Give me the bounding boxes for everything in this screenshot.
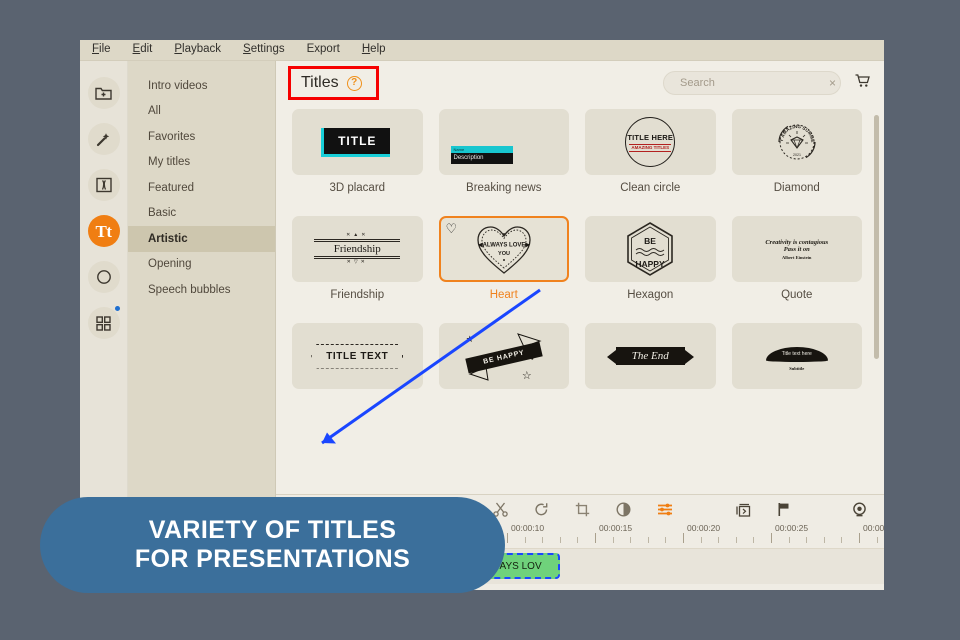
ruler-tick <box>771 533 772 543</box>
thumb-text-description: Description <box>451 153 513 164</box>
cut-icon[interactable] <box>493 502 508 517</box>
title-thumb: BE HAPPY <box>585 216 716 282</box>
svg-text:YOU: YOU <box>498 251 510 257</box>
svg-text:2021: 2021 <box>793 153 801 157</box>
title-card-breaking-news[interactable]: Name Description Breaking news <box>439 109 570 194</box>
menu-item-help[interactable]: Help <box>362 44 386 56</box>
title-thumb: Name Description <box>439 109 570 175</box>
ruler-tick <box>560 537 561 543</box>
rotate-icon[interactable] <box>534 502 549 517</box>
ruler-tick <box>753 537 754 543</box>
thumb-text-author: Albert Einstein <box>765 255 828 260</box>
ruler-label: 00:00:10 <box>511 523 544 533</box>
title-card-label: Clean circle <box>585 182 716 194</box>
ruler-tick <box>648 537 649 543</box>
ruler-tick <box>789 537 790 543</box>
svg-text:MY AMAZING SUMMER: MY AMAZING SUMMER <box>770 115 815 143</box>
category-all[interactable]: All <box>128 99 275 125</box>
title-thumb: TITLE <box>292 109 423 175</box>
notification-dot <box>115 306 120 311</box>
menu-item-playback[interactable]: Playback <box>174 44 221 56</box>
split-screen-icon[interactable] <box>735 503 751 517</box>
thumb-text: The End <box>616 347 685 365</box>
ruler-tick <box>736 537 737 543</box>
thumb-text-sub: Subtitle <box>766 366 828 371</box>
thumb-text: TITLE <box>324 128 390 157</box>
ruler-tick <box>841 537 842 543</box>
menu-item-file[interactable]: File <box>92 44 111 56</box>
title-thumb: TITLE TEXT <box>292 323 423 389</box>
add-media-icon[interactable] <box>88 77 120 109</box>
content-scrollbar[interactable] <box>874 115 879 359</box>
menu-bar: File Edit Playback Settings Export Help <box>80 40 884 61</box>
title-card-label: 3D placard <box>292 182 423 194</box>
caption-banner: VARIETY OF TITLES FOR PRESENTATIONS <box>40 497 505 593</box>
record-screen-icon[interactable] <box>852 502 867 517</box>
search-input[interactable] <box>680 77 822 89</box>
ruler-label: 00:00:20 <box>687 523 720 533</box>
title-card-diamond[interactable]: MY AMAZING SUMMER 2021 Diamond <box>732 109 863 194</box>
ruler-tick <box>859 533 860 543</box>
thumb-text-sub: AMAZING TITLES <box>629 144 671 152</box>
ruler-tick <box>683 533 684 543</box>
thumb-text-line1: Creativity is contagious <box>765 239 828 246</box>
titles-icon[interactable]: Tt <box>88 215 120 247</box>
category-basic[interactable]: Basic <box>128 201 275 227</box>
ruler-tick <box>665 537 666 543</box>
category-featured[interactable]: Featured <box>128 175 275 201</box>
title-card-heart[interactable]: ♡ ◀ALWAYS LOVE▶ YOU Heart <box>439 216 570 301</box>
help-icon[interactable]: ? <box>347 76 362 91</box>
title-thumb: The End <box>585 323 716 389</box>
filters-icon[interactable] <box>88 261 120 293</box>
clear-search-icon[interactable]: × <box>829 76 836 90</box>
title-thumb: TITLE HERE AMAZING TITLES <box>585 109 716 175</box>
title-thumb: MY AMAZING SUMMER 2021 <box>732 109 863 175</box>
svg-text:◀ALWAYS LOVE▶: ◀ALWAYS LOVE▶ <box>477 242 530 249</box>
title-thumb: Creativity is contagious Pass it on Albe… <box>732 216 863 282</box>
ruler-tick <box>824 537 825 543</box>
page-title: Titles <box>301 74 339 92</box>
ruler-tick <box>595 533 596 543</box>
ruler-label: 00:00:15 <box>599 523 632 533</box>
ruler-tick <box>507 533 508 543</box>
cart-icon[interactable] <box>855 74 870 93</box>
thumb-text-line2: Pass it on <box>765 246 828 253</box>
page-title-highlight: Titles ? <box>288 66 379 100</box>
thumb-text: TITLE TEXT <box>311 344 403 369</box>
menu-item-export[interactable]: Export <box>307 44 340 56</box>
menu-item-edit[interactable]: Edit <box>133 44 153 56</box>
thumb-text: Friendship <box>314 242 400 256</box>
title-card-hexagon[interactable]: BE HAPPY Hexagon <box>585 216 716 301</box>
caption-line-1: VARIETY OF TITLES <box>149 516 397 545</box>
title-card-the-end[interactable]: The End <box>585 323 716 396</box>
category-opening[interactable]: Opening <box>128 252 275 278</box>
title-card-label: Breaking news <box>439 182 570 194</box>
ruler-label: 00:00:25 <box>775 523 808 533</box>
category-speech-bubbles[interactable]: Speech bubbles <box>128 277 275 303</box>
category-intro-videos[interactable]: Intro videos <box>128 73 275 99</box>
panel-header: Titles ? × <box>276 61 884 105</box>
title-card-title-text[interactable]: TITLE TEXT <box>292 323 423 396</box>
ruler-tick <box>577 537 578 543</box>
adjust-sliders-icon[interactable] <box>657 502 673 517</box>
contrast-icon[interactable] <box>616 502 631 517</box>
ruler-tick <box>613 537 614 543</box>
magic-wand-icon[interactable] <box>88 123 120 155</box>
title-card-quote[interactable]: Creativity is contagious Pass it on Albe… <box>732 216 863 301</box>
thumb-text-name: Name <box>451 146 513 153</box>
crop-icon[interactable] <box>575 502 590 517</box>
svg-text:HAPPY: HAPPY <box>636 259 666 269</box>
title-card-banner[interactable]: Title text here Subtitle <box>732 323 863 396</box>
ruler-tick <box>542 537 543 543</box>
thumb-text-main: TITLE HERE <box>627 133 673 142</box>
svg-text:BE: BE <box>644 236 656 246</box>
title-card-label: Friendship <box>292 289 423 301</box>
caption-line-2: FOR PRESENTATIONS <box>135 545 410 574</box>
title-card-label: Heart <box>439 289 570 301</box>
ruler-tick <box>877 537 878 543</box>
transitions-icon[interactable] <box>88 169 120 201</box>
ruler-tick <box>806 537 807 543</box>
ruler-tick <box>630 537 631 543</box>
heart-outline-icon[interactable]: ♡ <box>446 222 458 235</box>
category-artistic[interactable]: Artistic <box>128 226 275 252</box>
title-card-clean-circle[interactable]: TITLE HERE AMAZING TITLES Clean circle <box>585 109 716 194</box>
marker-flag-icon[interactable] <box>777 502 790 517</box>
stickers-grid-icon[interactable] <box>88 307 120 339</box>
ruler-tick <box>701 537 702 543</box>
search-box[interactable]: × <box>663 71 841 95</box>
title-card-3d-placard[interactable]: TITLE 3D placard <box>292 109 423 194</box>
category-favorites[interactable]: Favorites <box>128 124 275 150</box>
title-card-label: Hexagon <box>585 289 716 301</box>
title-thumb: ★ ● ☆ BE HAPPY <box>439 323 570 389</box>
titles-grid: TITLE 3D placard Name Description Breaki… <box>276 105 884 396</box>
title-card-friendship[interactable]: ✕▲✕ Friendship ✕▽✕ Friendship <box>292 216 423 301</box>
title-card-be-happy[interactable]: ★ ● ☆ BE HAPPY <box>439 323 570 396</box>
title-thumb: ✕▲✕ Friendship ✕▽✕ <box>292 216 423 282</box>
titles-icon-label: Tt <box>96 223 112 240</box>
ruler-label: 00:00:30 <box>863 523 884 533</box>
heart-art: ◀ALWAYS LOVE▶ YOU <box>473 221 535 277</box>
category-my-titles[interactable]: My titles <box>128 150 275 176</box>
title-card-label: Diamond <box>732 182 863 194</box>
title-thumb: Title text here Subtitle <box>732 323 863 389</box>
thumb-text-main: Title text here <box>766 347 828 362</box>
ruler-tick <box>525 537 526 543</box>
menu-item-settings[interactable]: Settings <box>243 44 285 56</box>
diamond-badge-art: MY AMAZING SUMMER 2021 <box>770 115 824 169</box>
title-thumb: ♡ ◀ALWAYS LOVE▶ YOU <box>439 216 570 282</box>
title-card-label: Quote <box>732 289 863 301</box>
ruler-tick <box>718 537 719 543</box>
hexagon-art: BE HAPPY <box>623 221 677 277</box>
